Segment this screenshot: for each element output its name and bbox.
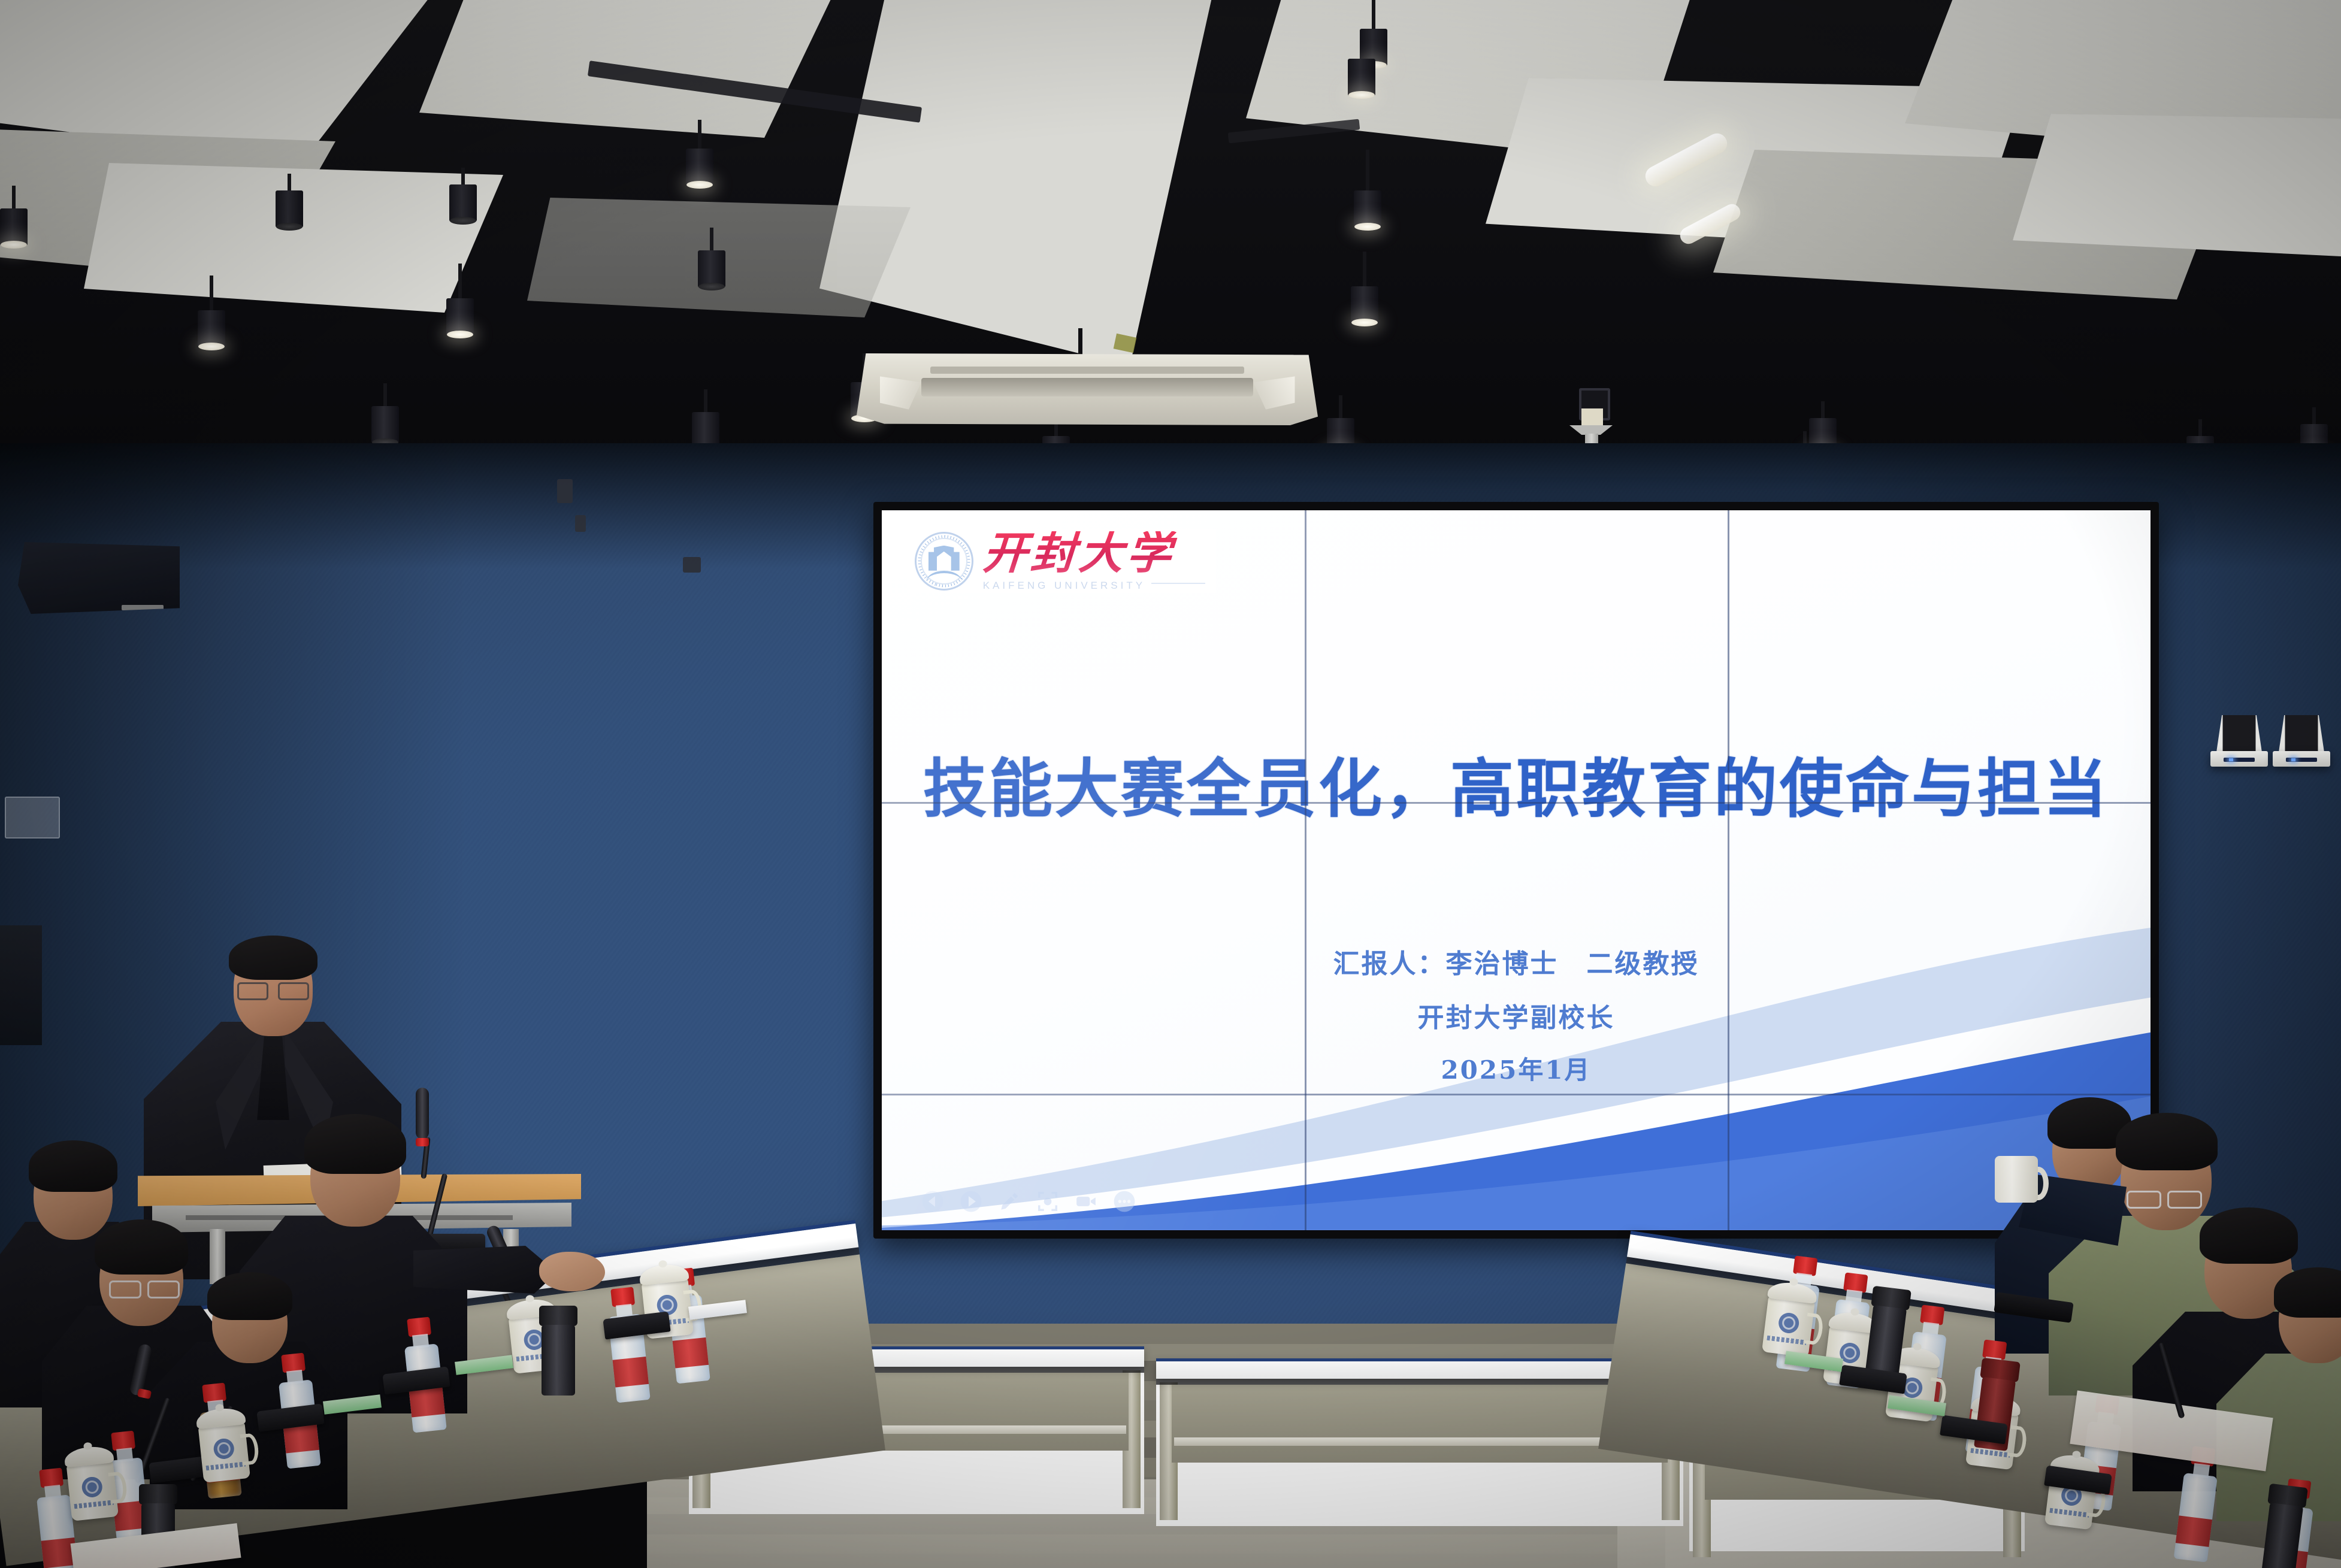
video-wall-seam bbox=[882, 802, 2151, 804]
wall-sensor bbox=[575, 515, 586, 532]
slide-toolbar[interactable] bbox=[921, 1190, 1136, 1213]
pendant-light bbox=[446, 264, 474, 335]
wall-edge-trim bbox=[0, 925, 42, 1045]
pendant-light bbox=[198, 276, 225, 347]
pendant-light bbox=[1360, 0, 1387, 66]
pendant-light bbox=[1354, 150, 1381, 228]
pendant-light bbox=[1351, 252, 1378, 323]
slide-logo-name-cn: 开封大学 bbox=[981, 531, 1207, 576]
logo-rule bbox=[1151, 583, 1205, 584]
presenter-glasses bbox=[237, 982, 309, 998]
ceiling bbox=[0, 0, 2341, 515]
mic-charger-dock[interactable] bbox=[2210, 716, 2268, 767]
thermos-flask bbox=[539, 1306, 577, 1396]
slide-logo: 开封大学 KAIFENG UNIVERSITY bbox=[911, 529, 1216, 593]
lidded-teacup bbox=[62, 1445, 121, 1521]
presenter-hair bbox=[229, 936, 317, 980]
slide-subtitle-presenter: 汇报人：李治博士 二级教授 bbox=[882, 942, 2151, 980]
previous-slide-icon[interactable] bbox=[921, 1190, 944, 1213]
wall-mounted-speaker bbox=[18, 542, 180, 614]
conference-room-photo: 开封大学 KAIFENG UNIVERSITY 技能大赛全员化，高职教育的使命与… bbox=[0, 0, 2341, 1568]
lidded-teacup bbox=[194, 1406, 253, 1483]
slide-title: 技能大赛全员化，高职教育的使命与担当 bbox=[882, 737, 2151, 830]
pen-annotate-icon[interactable] bbox=[998, 1190, 1021, 1213]
lidded-teacup bbox=[1759, 1280, 1819, 1358]
wall-sensor bbox=[683, 557, 701, 573]
play-slide-icon[interactable] bbox=[960, 1190, 982, 1213]
wireless-mic-charging-docks[interactable] bbox=[2210, 701, 2341, 767]
video-wall-display-area: 开封大学 KAIFENG UNIVERSITY 技能大赛全员化，高职教育的使命与… bbox=[882, 510, 2151, 1230]
video-wall-seam bbox=[882, 1094, 2151, 1095]
attendee-right-4 bbox=[2216, 1270, 2341, 1521]
pendant-light bbox=[686, 120, 713, 186]
wall-sensor bbox=[557, 479, 573, 503]
more-options-icon[interactable] bbox=[1113, 1190, 1136, 1213]
video-wall-seam bbox=[1728, 510, 1729, 1230]
presentation-slide: 开封大学 KAIFENG UNIVERSITY 技能大赛全员化，高职教育的使命与… bbox=[882, 510, 2151, 1230]
pendant-light bbox=[371, 383, 399, 443]
slide-subtitle-block: 汇报人：李治博士 二级教授 开封大学副校长 2025年1月 bbox=[882, 942, 2151, 1102]
kaifeng-university-seal-icon bbox=[915, 532, 973, 591]
white-mug bbox=[1995, 1156, 2049, 1203]
attendee-left-3-hand bbox=[539, 1252, 605, 1291]
spotlight-focus-icon[interactable] bbox=[1036, 1190, 1059, 1213]
record-video-icon[interactable] bbox=[1075, 1190, 1097, 1213]
lcd-video-wall[interactable]: 开封大学 KAIFENG UNIVERSITY 技能大赛全员化，高职教育的使命与… bbox=[873, 502, 2159, 1239]
mic-charger-dock[interactable] bbox=[2273, 716, 2330, 767]
slide-subtitle-date: 2025年1月 bbox=[882, 1050, 2151, 1086]
ceiling-panel bbox=[2013, 114, 2341, 258]
video-wall-seam bbox=[1305, 510, 1306, 1230]
pendant-light bbox=[449, 168, 477, 222]
slide-subtitle-role: 开封大学副校长 bbox=[882, 996, 2151, 1034]
pendant-light bbox=[276, 174, 303, 228]
wall-control-plate bbox=[5, 797, 60, 839]
pendant-light bbox=[1348, 60, 1375, 96]
pendant-light bbox=[698, 228, 725, 287]
slide-logo-name-en: KAIFENG UNIVERSITY bbox=[983, 580, 1145, 591]
ceiling-cassette-ac-unit bbox=[857, 353, 1318, 425]
pendant-light bbox=[692, 389, 719, 449]
pendant-light bbox=[0, 186, 28, 246]
